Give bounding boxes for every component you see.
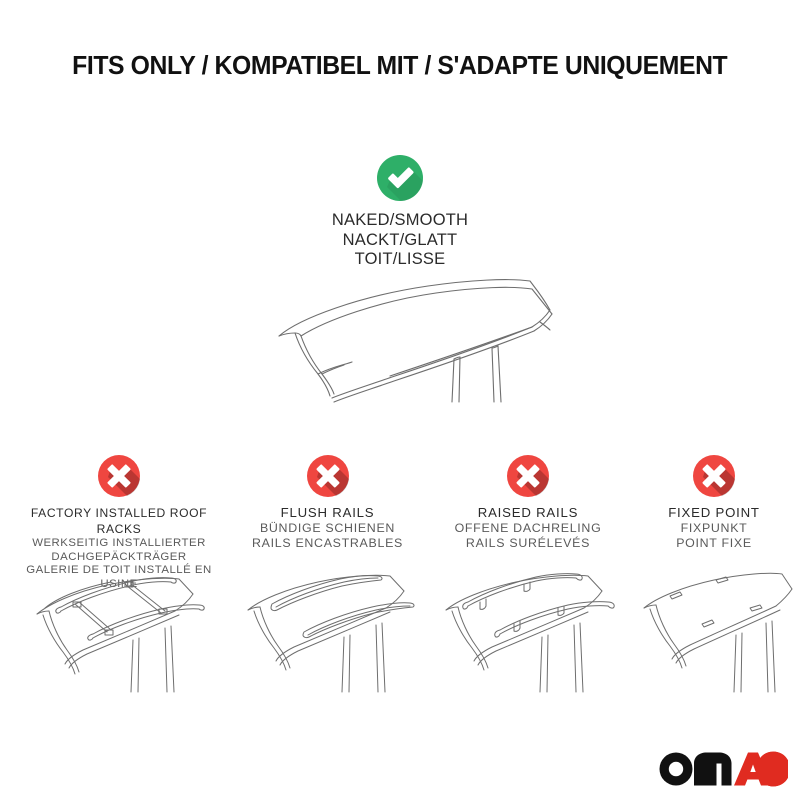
car-roof-fixed-point-illustration	[630, 552, 798, 692]
incompatible-label-1: OFFENE DACHRELING	[428, 521, 628, 536]
incompatible-label-2: RAILS ENCASTRABLES	[230, 536, 425, 551]
x-circle-icon	[507, 455, 549, 497]
incompatible-label-0: FIXED POINT	[630, 505, 798, 521]
car-roof-flush-rails-illustration	[230, 552, 425, 692]
incompatible-labels: RAISED RAILS OFFENE DACHRELING RAILS SUR…	[428, 505, 628, 551]
check-circle-icon	[377, 155, 423, 201]
compatible-label-1: NACKT/GLATT	[0, 231, 800, 251]
incompatible-label-0: FLUSH RAILS	[230, 505, 425, 521]
incompatible-label-1: BÜNDIGE SCHIENEN	[230, 521, 425, 536]
page-title-text: FITS ONLY / KOMPATIBEL MIT / S'ADAPTE UN…	[72, 52, 727, 81]
omac-logo	[658, 750, 788, 788]
incompatible-label-0: RAISED RAILS	[428, 505, 628, 521]
incompatible-label-0: FACTORY INSTALLED ROOF RACKS	[15, 505, 223, 537]
compatible-label-0: NAKED/SMOOTH	[0, 211, 800, 231]
car-roof-naked-smooth-illustration	[240, 272, 580, 402]
incompatible-section: FACTORY INSTALLED ROOF RACKS WERKSEITIG …	[0, 455, 800, 800]
x-circle-icon	[98, 455, 140, 497]
incompatible-label-2: POINT FIXE	[630, 536, 798, 551]
incompatible-label-1: FIXPUNKT	[630, 521, 798, 536]
x-circle-icon	[693, 455, 735, 497]
compatible-labels: NAKED/SMOOTH NACKT/GLATT TOIT/LISSE	[0, 211, 800, 270]
infographic-root: FITS ONLY / KOMPATIBEL MIT / S'ADAPTE UN…	[0, 0, 800, 800]
incompatible-item-fixed-point: FIXED POINT FIXPUNKT POINT FIXE	[630, 455, 798, 551]
incompatible-item-raised-rails: RAISED RAILS OFFENE DACHRELING RAILS SUR…	[428, 455, 628, 551]
page-title: FITS ONLY / KOMPATIBEL MIT / S'ADAPTE UN…	[0, 52, 800, 81]
incompatible-labels: FIXED POINT FIXPUNKT POINT FIXE	[630, 505, 798, 551]
incompatible-item-factory-rack: FACTORY INSTALLED ROOF RACKS WERKSEITIG …	[15, 455, 223, 591]
car-roof-factory-rack-illustration	[15, 552, 223, 692]
compatible-label-2: TOIT/LISSE	[0, 250, 800, 270]
x-circle-icon	[307, 455, 349, 497]
incompatible-label-2: RAILS SURÉLEVÉS	[428, 536, 628, 551]
incompatible-item-flush-rails: FLUSH RAILS BÜNDIGE SCHIENEN RAILS ENCAS…	[230, 455, 425, 551]
compatible-section: NAKED/SMOOTH NACKT/GLATT TOIT/LISSE	[0, 155, 800, 270]
incompatible-label-1: WERKSEITIG INSTALLIERTER	[15, 537, 223, 551]
car-roof-raised-rails-illustration	[428, 552, 628, 692]
incompatible-labels: FLUSH RAILS BÜNDIGE SCHIENEN RAILS ENCAS…	[230, 505, 425, 551]
